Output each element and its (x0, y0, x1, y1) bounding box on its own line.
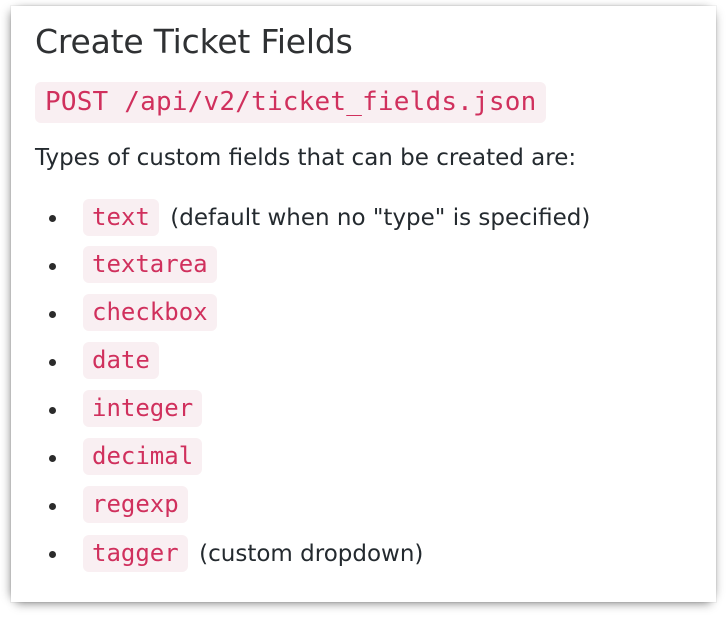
list-item: text (default when no "type" is specifie… (35, 194, 694, 242)
field-type-list: text (default when no "type" is specifie… (35, 194, 694, 578)
list-item: tagger (custom dropdown) (35, 530, 694, 578)
documentation-card: Create Ticket Fields POST /api/v2/ticket… (11, 6, 716, 602)
list-item: textarea (35, 242, 694, 290)
field-type-code: decimal (83, 438, 202, 475)
list-item: date (35, 338, 694, 386)
list-item: regexp (35, 482, 694, 530)
bullet-icon (49, 407, 56, 414)
bullet-icon (49, 503, 56, 510)
field-type-code: tagger (83, 535, 188, 572)
bullet-icon (49, 215, 56, 222)
bullet-icon (49, 359, 56, 366)
bullet-icon (49, 311, 56, 318)
field-type-code: regexp (83, 486, 188, 523)
list-item: integer (35, 386, 694, 434)
field-type-code: textarea (83, 246, 217, 283)
endpoint-code: POST /api/v2/ticket_fields.json (35, 82, 546, 123)
intro-paragraph: Types of custom fields that can be creat… (35, 143, 694, 173)
documentation-content: Create Ticket Fields POST /api/v2/ticket… (11, 6, 716, 578)
page-title: Create Ticket Fields (35, 20, 694, 64)
bullet-icon (49, 551, 56, 558)
list-item: checkbox (35, 290, 694, 338)
bullet-icon (49, 263, 56, 270)
list-item: decimal (35, 434, 694, 482)
endpoint-row: POST /api/v2/ticket_fields.json (35, 82, 694, 123)
field-type-note: (default when no "type" is specified) (170, 205, 590, 231)
screenshot-stage: Create Ticket Fields POST /api/v2/ticket… (0, 0, 728, 623)
field-type-note: (custom dropdown) (199, 541, 423, 567)
field-type-code: text (83, 199, 159, 236)
field-type-code: date (83, 342, 159, 379)
field-type-code: integer (83, 390, 202, 427)
field-type-code: checkbox (83, 294, 217, 331)
bullet-icon (49, 455, 56, 462)
